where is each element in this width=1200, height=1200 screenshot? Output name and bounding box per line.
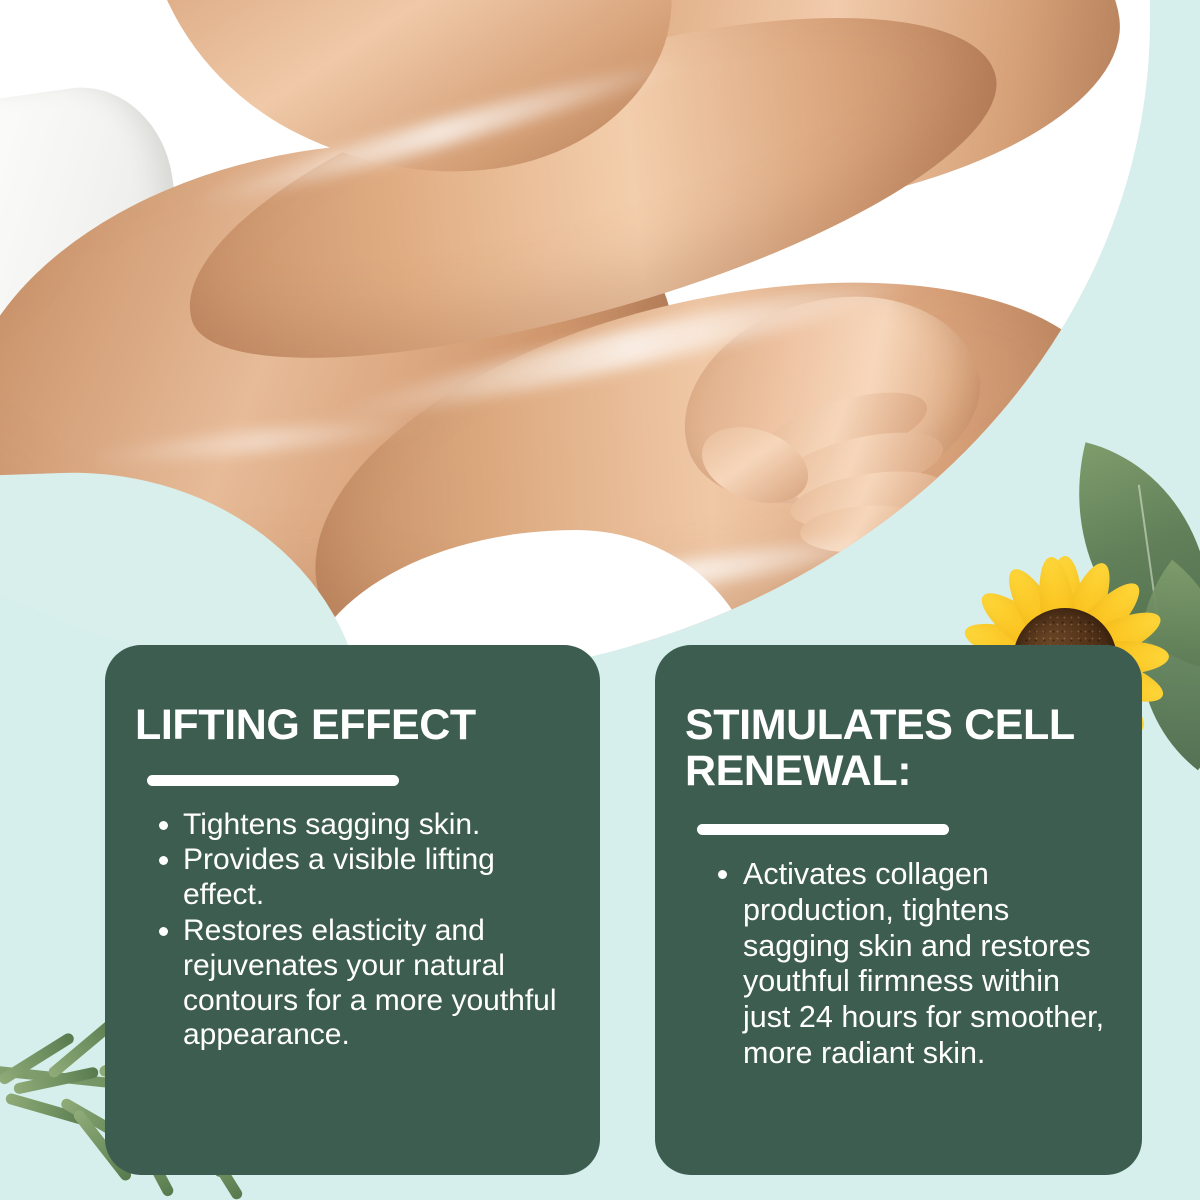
benefit-list: Activates collagen production, tightens …: [685, 857, 1110, 1071]
poster-canvas: LIFTING EFFECT Tightens sagging skin. Pr…: [0, 0, 1200, 1200]
list-item: Restores elasticity and rejuvenates your…: [183, 914, 568, 1053]
list-item: Tightens sagging skin.: [183, 808, 568, 843]
card-lifting-effect[interactable]: LIFTING EFFECT Tightens sagging skin. Pr…: [105, 645, 600, 1175]
title-divider: [147, 775, 399, 786]
card-title: LIFTING EFFECT: [135, 703, 568, 749]
list-item: Activates collagen production, tightens …: [743, 857, 1110, 1071]
list-item: Provides a visible lifting effect.: [183, 843, 568, 913]
benefit-list: Tightens sagging skin. Provides a visibl…: [135, 808, 568, 1054]
card-title: STIMULATES CELL RENEWAL:: [685, 703, 1110, 794]
card-stimulates-cell-renewal[interactable]: STIMULATES CELL RENEWAL: Activates colla…: [655, 645, 1142, 1175]
title-divider: [697, 824, 949, 835]
